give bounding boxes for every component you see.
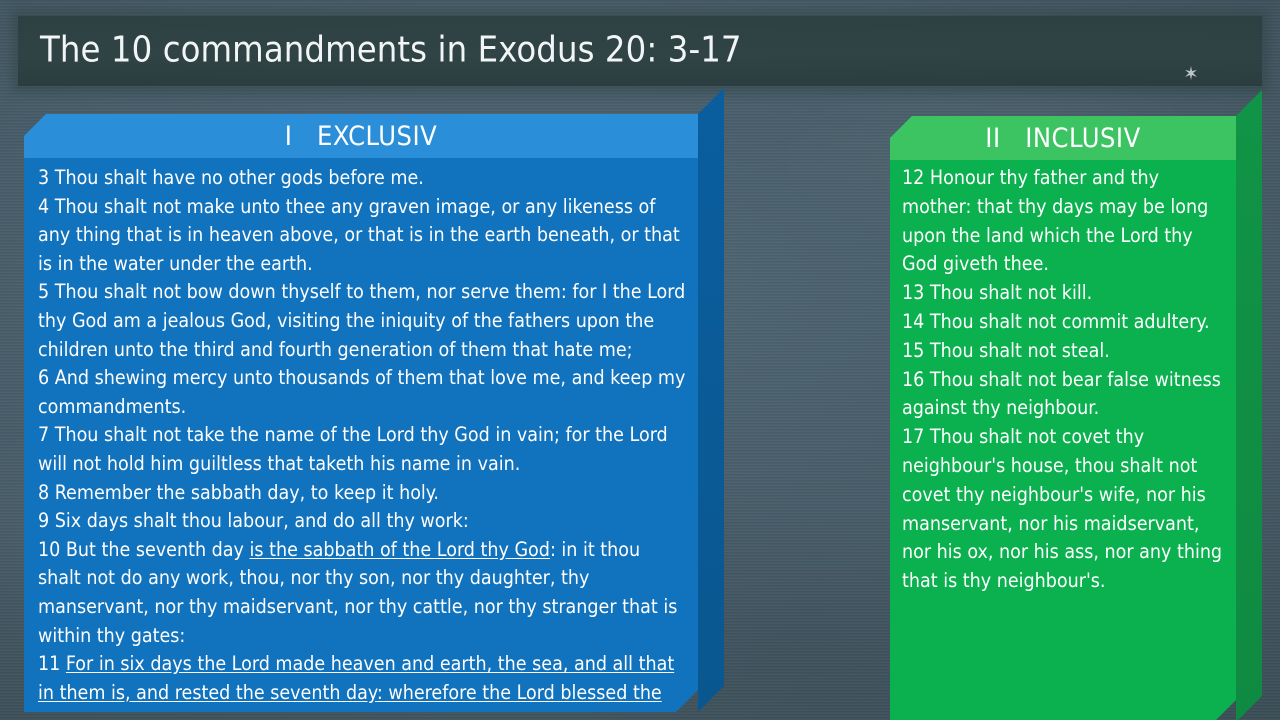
verse-text-underlined: For in six days the Lord made heaven and… (38, 652, 674, 712)
title-bar: The 10 commandments in Exodus 20: 3-17 (18, 16, 1262, 86)
verse-number: 5 (38, 280, 49, 303)
cursor-artifact-icon (1184, 66, 1198, 80)
verse-text: Thou shalt not steal. (924, 339, 1109, 362)
verse-number: 6 (38, 366, 49, 389)
panel-exclusive-body: 3 Thou shalt have no other gods before m… (24, 158, 698, 712)
verse-text: Remember the sabbath day, to keep it hol… (49, 481, 439, 504)
verse-text: Thou shalt not bow down thyself to them,… (38, 280, 685, 360)
verse-number: 3 (38, 166, 49, 189)
verse-number: 8 (38, 481, 49, 504)
verse-line: 12 Honour thy father and thy mother: tha… (902, 164, 1226, 279)
verse-number: 12 (902, 166, 924, 189)
verse-number: 14 (902, 310, 924, 333)
verse-number: 9 (38, 509, 49, 532)
panel-inclusive: II INCLUSIV 12 Honour thy father and thy… (890, 90, 1262, 720)
verse-line: 17 Thou shalt not covet thy neighbour's … (902, 423, 1226, 596)
panel-inclusive-body: 12 Honour thy father and thy mother: tha… (890, 160, 1236, 606)
verse-line: 10 But the seventh day is the sabbath of… (38, 536, 686, 650)
panel-inclusive-front-face: II INCLUSIV 12 Honour thy father and thy… (890, 116, 1236, 720)
verse-number: 16 (902, 368, 924, 391)
verse-line: 7 Thou shalt not take the name of the Lo… (38, 421, 686, 478)
verse-text: Thou shalt not make unto thee any graven… (38, 195, 680, 275)
verse-text: Thou shalt not take the name of the Lord… (38, 423, 668, 475)
verse-text: But the seventh day (60, 538, 249, 561)
verse-text: Honour thy father and thy mother: that t… (902, 166, 1208, 275)
verse-number: 15 (902, 339, 924, 362)
page-title: The 10 commandments in Exodus 20: 3-17 (40, 30, 742, 71)
verse-line: 8 Remember the sabbath day, to keep it h… (38, 479, 686, 508)
verse-line: 6 And shewing mercy unto thousands of th… (38, 364, 686, 421)
verse-number: 4 (38, 195, 49, 218)
panel-exclusive-front-face: I EXCLUSIV 3 Thou shalt have no other go… (24, 114, 698, 712)
verse-text: And shewing mercy unto thousands of them… (38, 366, 685, 418)
verse-line: 14 Thou shalt not commit adultery. (902, 308, 1226, 337)
verse-line: 3 Thou shalt have no other gods before m… (38, 164, 686, 193)
verse-line: 9 Six days shalt thou labour, and do all… (38, 507, 686, 536)
verse-number: 11 (38, 652, 60, 675)
verse-line: 11 For in six days the Lord made heaven … (38, 650, 686, 712)
panel-exclusive-side-face (698, 88, 724, 712)
verse-text: Thou shalt not kill. (924, 281, 1092, 304)
slide-canvas: The 10 commandments in Exodus 20: 3-17 I… (0, 0, 1280, 720)
verse-number: 10 (38, 538, 60, 561)
verse-text: Thou shalt not bear false witness agains… (902, 368, 1221, 420)
verse-line: 5 Thou shalt not bow down thyself to the… (38, 278, 686, 364)
verse-text-underlined: is the sabbath of the Lord thy God (250, 538, 550, 561)
verse-number: 13 (902, 281, 924, 304)
verse-line: 15 Thou shalt not steal. (902, 337, 1226, 366)
panel-exclusive-header: I EXCLUSIV (24, 114, 698, 158)
verse-number: 17 (902, 425, 924, 448)
verse-line: 4 Thou shalt not make unto thee any grav… (38, 193, 686, 279)
verse-text: Thou shalt have no other gods before me. (49, 166, 424, 189)
verse-line: 13 Thou shalt not kill. (902, 279, 1226, 308)
verse-number: 7 (38, 423, 49, 446)
panel-inclusive-header: II INCLUSIV (890, 116, 1236, 160)
verse-line: 16 Thou shalt not bear false witness aga… (902, 366, 1226, 424)
verse-text: Thou shalt not commit adultery. (924, 310, 1209, 333)
panel-exclusive: I EXCLUSIV 3 Thou shalt have no other go… (24, 88, 724, 712)
verse-text: Six days shalt thou labour, and do all t… (49, 509, 469, 532)
panel-inclusive-side-face (1236, 90, 1262, 720)
verse-text: Thou shalt not covet thy neighbour's hou… (902, 425, 1222, 592)
